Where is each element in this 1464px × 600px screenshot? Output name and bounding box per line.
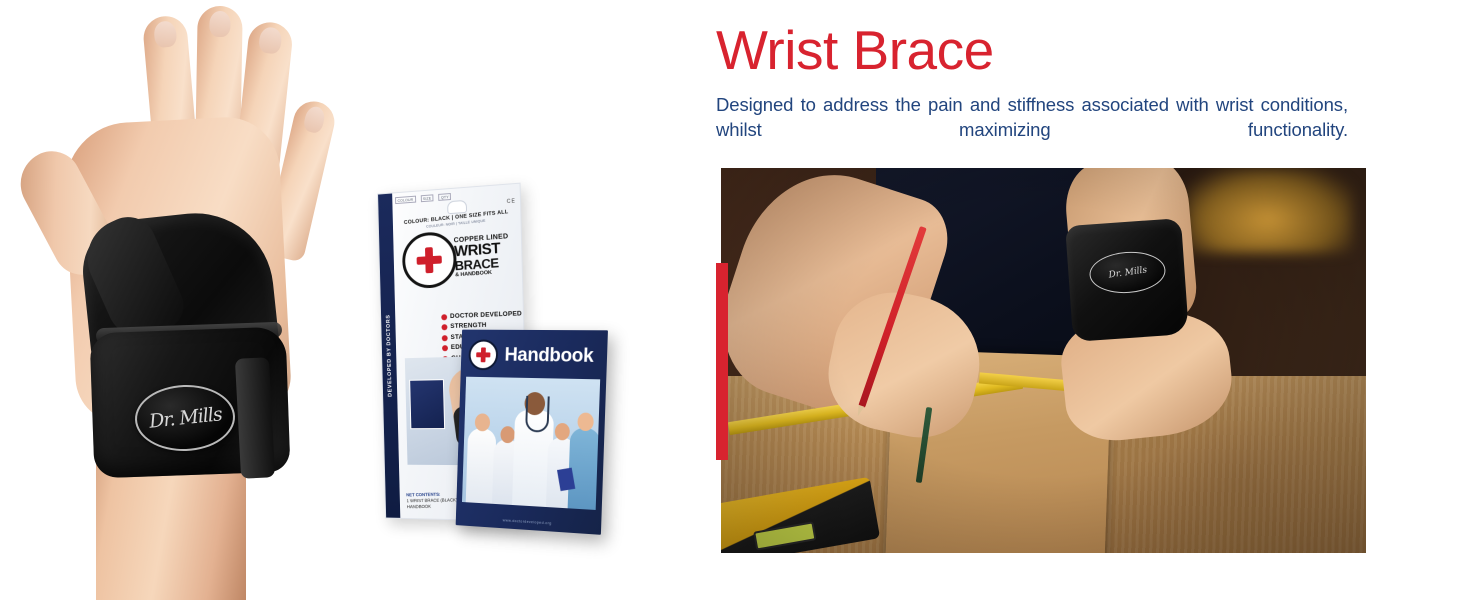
hang-tab-colour: COLOUR [395, 196, 416, 204]
medical-cross-icon [416, 247, 442, 274]
marketing-banner: Dr. Mills DEVELOPED BY DOCTORS COLOUR SI… [0, 0, 1464, 600]
brand-logo-badge [402, 231, 457, 290]
photo-vignette [721, 168, 1366, 553]
lifestyle-photo: Dr. Mills [721, 168, 1366, 553]
red-accent-bar [716, 263, 728, 460]
ce-mark: CE [507, 198, 516, 205]
brace-velcro-strap [235, 357, 275, 479]
box-spine: DEVELOPED BY DOCTORS [378, 194, 400, 518]
stethoscope-icon [525, 396, 550, 433]
handbook-booklet: Handbook www.doctordeveloped.org [456, 330, 608, 535]
hang-tab-size: SIZE [420, 194, 433, 202]
box-title-block: COPPER LINED WRIST BRACE & HANDBOOK [454, 232, 520, 278]
doctor-figure [568, 427, 601, 510]
handbook-title: Handbook [504, 344, 594, 367]
subtitle-text: Designed to address the pain and stiffne… [716, 92, 1348, 169]
packaging-group: DEVELOPED BY DOCTORS COLOUR SIZE QTY CE … [360, 170, 640, 570]
hand-illustration: Dr. Mills [0, 0, 360, 600]
euro-hang-hole [447, 200, 467, 214]
box-photo-handbook [409, 379, 445, 429]
list-item: DOCTOR DEVELOPED [441, 309, 529, 321]
box-spine-text: DEVELOPED BY DOCTORS [385, 314, 393, 396]
medical-cross-icon [468, 339, 498, 370]
handbook-url: www.doctordeveloped.org [456, 515, 601, 528]
copy-block: Wrist Brace Designed to address the pain… [716, 22, 1376, 168]
product-hero-image: Dr. Mills [0, 0, 360, 600]
hang-tab-qty: QTY [439, 193, 452, 201]
page-title: Wrist Brace [716, 22, 1376, 80]
handbook-header: Handbook [468, 339, 594, 372]
signature-mark: Dr. Mills [148, 403, 223, 432]
lifestyle-photo-block: Dr. Mills [716, 168, 1366, 553]
handbook-cover-photo [462, 377, 600, 510]
